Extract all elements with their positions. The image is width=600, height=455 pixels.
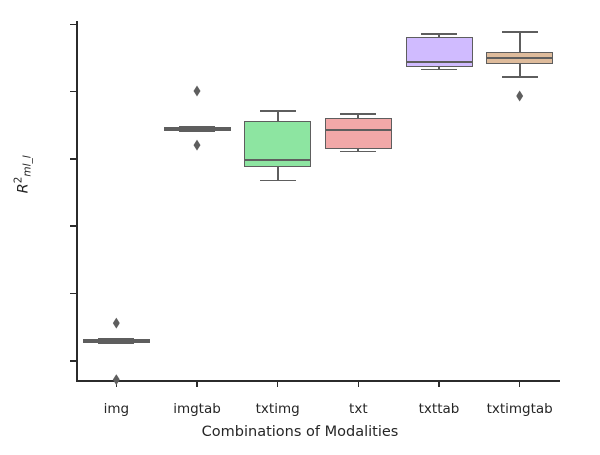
- x-axis-tick-label-imgtab: imgtab: [173, 401, 221, 417]
- y-axis-title: R2ml_l: [13, 163, 34, 193]
- x-axis-tick-label-txtimg: txtimg: [256, 401, 300, 417]
- median-txtimgtab: [486, 57, 553, 59]
- whisker-cap-upper-txtimg: [260, 110, 296, 112]
- whisker-cap-lower-txtimgtab: [502, 76, 538, 78]
- median-imgtab: [164, 128, 231, 130]
- boxplot-figure: 0.10.20.30.40.50.6 imgimgtabtxtimgtxttxt…: [0, 0, 600, 455]
- y-axis-title-subscript: ml_l: [21, 155, 33, 176]
- x-axis-title: Combinations of Modalities: [0, 424, 600, 440]
- x-axis-tick: [358, 381, 360, 387]
- whisker-cap-upper-txttab: [421, 33, 457, 35]
- whisker-cap-lower-txtimg: [260, 180, 296, 182]
- whisker-cap-lower-txt: [340, 151, 376, 153]
- outlier-imgtab-1: [194, 140, 201, 151]
- outlier-img-1: [113, 374, 120, 385]
- x-axis-tick: [438, 381, 440, 387]
- whisker-lower-txtimg: [277, 167, 279, 180]
- x-axis-tick-label-img: img: [104, 401, 129, 417]
- plot-area: [76, 21, 560, 381]
- median-txt: [325, 129, 392, 131]
- x-axis-tick: [519, 381, 521, 387]
- median-txttab: [406, 61, 473, 63]
- median-txtimg: [244, 159, 311, 161]
- whisker-cap-lower-txttab: [421, 69, 457, 71]
- whisker-upper-txtimg: [277, 111, 279, 121]
- x-axis-tick-label-txtimgtab: txtimgtab: [487, 401, 553, 417]
- y-axis-title-symbol: R: [15, 183, 31, 193]
- outlier-txtimgtab-0: [516, 91, 523, 102]
- x-axis-tick-label-txt: txt: [349, 401, 368, 417]
- x-axis-tick: [196, 381, 198, 387]
- box-txt: [325, 118, 392, 150]
- outlier-img-0: [113, 318, 120, 329]
- box-txttab: [406, 37, 473, 67]
- whisker-upper-txtimgtab: [519, 32, 521, 53]
- whisker-cap-upper-txt: [340, 113, 376, 115]
- median-img: [83, 340, 150, 342]
- whisker-cap-upper-txtimgtab: [502, 31, 538, 33]
- y-axis-title-superscript: 2: [13, 177, 25, 184]
- x-axis-tick-label-txttab: txttab: [419, 401, 460, 417]
- x-axis-tick: [277, 381, 279, 387]
- whisker-lower-txtimgtab: [519, 64, 521, 76]
- outlier-imgtab-0: [194, 85, 201, 96]
